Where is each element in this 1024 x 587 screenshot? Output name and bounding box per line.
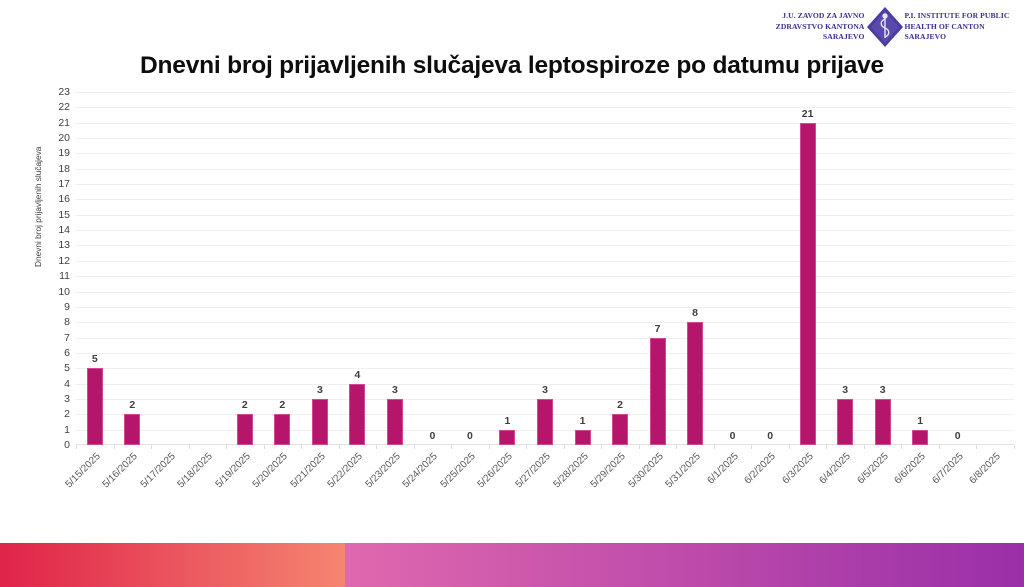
bar-value-label: 0 <box>467 430 473 442</box>
bar[interactable] <box>237 414 253 445</box>
bar[interactable] <box>650 338 666 445</box>
bar-value-label: 2 <box>279 399 285 411</box>
bar-value-label: 3 <box>392 384 398 396</box>
bar[interactable] <box>612 414 628 445</box>
logo-line-bs-1: J.U. ZAVOD ZA JAVNO <box>747 11 865 22</box>
y-tick-16: 16 <box>44 194 70 205</box>
bar-value-label: 0 <box>955 430 961 442</box>
bar-slot: 2 <box>601 92 639 445</box>
bar[interactable] <box>312 399 328 445</box>
bar[interactable] <box>537 399 553 445</box>
bar-slot: 21 <box>789 92 827 445</box>
y-tick-2: 2 <box>44 409 70 420</box>
footer-band-warm <box>0 543 345 587</box>
bar-value-label: 8 <box>692 307 698 319</box>
bar-slot: 3 <box>376 92 414 445</box>
bar[interactable] <box>499 430 515 445</box>
bar-slot: 7 <box>639 92 677 445</box>
footer-color-bands <box>0 543 1024 587</box>
bar[interactable] <box>875 399 891 445</box>
bar-value-label: 0 <box>767 430 773 442</box>
x-tick <box>1014 445 1015 449</box>
bar-value-label: 1 <box>917 415 923 427</box>
bar-slot: 5 <box>76 92 114 445</box>
y-tick-3: 3 <box>44 394 70 405</box>
bar[interactable] <box>837 399 853 445</box>
bar-slot: 4 <box>339 92 377 445</box>
bar-slot: 0 <box>939 92 977 445</box>
bar[interactable] <box>575 430 591 445</box>
bar-value-label: 3 <box>842 384 848 396</box>
footer-band-magenta <box>345 543 1024 587</box>
bar-slot: 2 <box>264 92 302 445</box>
bar-slot <box>189 92 227 445</box>
y-tick-22: 22 <box>44 102 70 113</box>
y-tick-11: 11 <box>44 271 70 282</box>
bar[interactable] <box>124 414 140 445</box>
logo-line-en-1: P.I. INSTITUTE FOR PUBLIC <box>905 11 1023 22</box>
bar[interactable] <box>912 430 928 445</box>
y-tick-18: 18 <box>44 163 70 174</box>
y-tick-9: 9 <box>44 302 70 313</box>
bar-value-label: 0 <box>430 430 436 442</box>
bar-value-label: 3 <box>317 384 323 396</box>
bar[interactable] <box>349 384 365 445</box>
bar-value-label: 5 <box>92 353 98 365</box>
bar-chart: Dnevni broj prijavljenih slučajeva 01234… <box>0 92 1024 532</box>
y-tick-20: 20 <box>44 133 70 144</box>
logo-line-en-3: SARAJEVO <box>905 32 1023 43</box>
bar[interactable] <box>687 322 703 445</box>
bar-slot <box>151 92 189 445</box>
bar-value-label: 2 <box>242 399 248 411</box>
y-tick-7: 7 <box>44 332 70 343</box>
bar-slot: 3 <box>826 92 864 445</box>
bar[interactable] <box>274 414 290 445</box>
bar-value-label: 4 <box>354 369 360 381</box>
y-axis-title: Dnevni broj prijavljenih slučajeva <box>33 67 43 267</box>
bar-value-label: 1 <box>505 415 511 427</box>
bar-value-label: 3 <box>542 384 548 396</box>
y-tick-10: 10 <box>44 286 70 297</box>
bar-value-label: 1 <box>580 415 586 427</box>
bar-value-label: 2 <box>617 399 623 411</box>
bar-value-label: 7 <box>655 323 661 335</box>
y-tick-12: 12 <box>44 256 70 267</box>
bar-slot: 0 <box>751 92 789 445</box>
y-axis-tick-labels: 01234567891011121314151617181920212223 <box>44 92 70 445</box>
y-tick-4: 4 <box>44 378 70 389</box>
bar[interactable] <box>800 123 816 445</box>
logo-text-english: P.I. INSTITUTE FOR PUBLIC HEALTH OF CANT… <box>905 11 1023 43</box>
logo-line-en-2: HEALTH OF CANTON <box>905 22 1023 33</box>
bar-slot: 0 <box>714 92 752 445</box>
bar-slot: 8 <box>676 92 714 445</box>
bar-slot: 3 <box>301 92 339 445</box>
bar-value-label: 21 <box>802 108 814 120</box>
bar-value-label: 0 <box>730 430 736 442</box>
y-tick-23: 23 <box>44 87 70 98</box>
bar-value-label: 3 <box>880 384 886 396</box>
y-tick-5: 5 <box>44 363 70 374</box>
y-tick-13: 13 <box>44 240 70 251</box>
bar-slot: 2 <box>226 92 264 445</box>
bar-slot: 3 <box>526 92 564 445</box>
bar-series: 52223430013127800213310 <box>76 92 1014 445</box>
chart-title: Dnevni broj prijavljenih slučajeva lepto… <box>0 52 1024 80</box>
caduceus-diamond-icon <box>865 5 905 49</box>
logo-text-bosnian: J.U. ZAVOD ZA JAVNO ZDRAVSTVO KANTONA SA… <box>747 11 865 43</box>
y-tick-19: 19 <box>44 148 70 159</box>
y-tick-15: 15 <box>44 210 70 221</box>
bar-slot: 2 <box>114 92 152 445</box>
x-axis-tick-labels: 5/15/20255/16/20255/17/20255/18/20255/19… <box>76 445 1014 532</box>
bar-slot: 0 <box>451 92 489 445</box>
bar-slot: 3 <box>864 92 902 445</box>
bar[interactable] <box>387 399 403 445</box>
bar-slot: 0 <box>414 92 452 445</box>
y-tick-0: 0 <box>44 440 70 451</box>
bar-slot <box>976 92 1014 445</box>
logo-line-bs-3: SARAJEVO <box>747 32 865 43</box>
y-tick-8: 8 <box>44 317 70 328</box>
institute-logo: J.U. ZAVOD ZA JAVNO ZDRAVSTVO KANTONA SA… <box>745 4 1024 50</box>
bar-slot: 1 <box>901 92 939 445</box>
logo-line-bs-2: ZDRAVSTVO KANTONA <box>747 22 865 33</box>
y-tick-17: 17 <box>44 179 70 190</box>
y-tick-14: 14 <box>44 225 70 236</box>
bar-slot: 1 <box>489 92 527 445</box>
bar[interactable] <box>87 368 103 445</box>
plot-area: 52223430013127800213310 <box>76 92 1014 445</box>
bar-value-label: 2 <box>129 399 135 411</box>
y-tick-21: 21 <box>44 117 70 128</box>
y-tick-1: 1 <box>44 424 70 435</box>
bar-slot: 1 <box>564 92 602 445</box>
y-tick-6: 6 <box>44 348 70 359</box>
